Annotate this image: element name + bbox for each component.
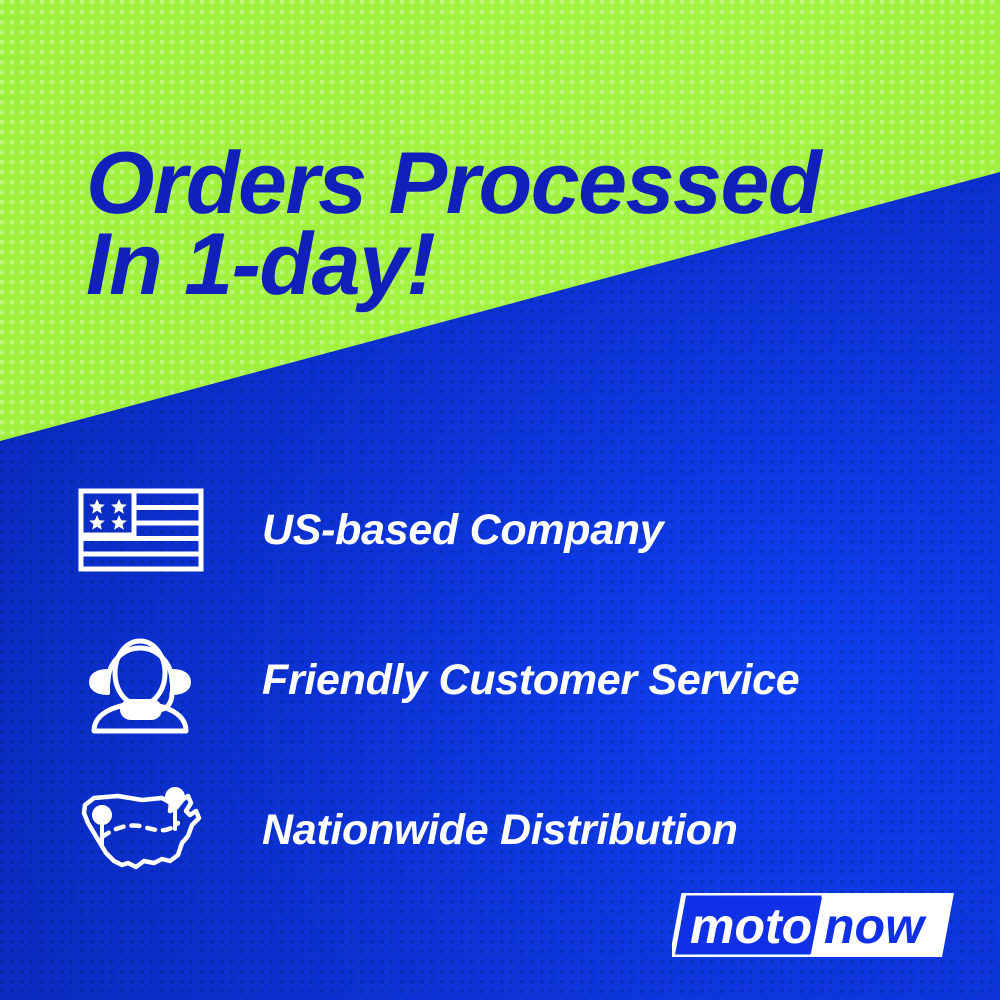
headline-line-2: In 1-day! — [86, 224, 946, 305]
headset-support-agent-icon — [78, 626, 210, 734]
logo-text-now: now — [824, 898, 927, 954]
feature-list: US-based Company — [78, 455, 938, 905]
promo-banner: Orders Processed In 1-day! — [0, 0, 1000, 1000]
motonow-logo[interactable]: moto now — [672, 893, 954, 957]
logo-text-moto: moto — [690, 898, 812, 954]
us-map-distribution-icon — [78, 781, 210, 879]
feature-label: US-based Company — [262, 506, 663, 555]
page-title: Orders Processed In 1-day! — [86, 62, 946, 386]
us-flag-icon — [78, 488, 210, 572]
feature-row-nationwide-distribution: Nationwide Distribution — [78, 755, 938, 905]
feature-row-us-based-company: US-based Company — [78, 455, 938, 605]
feature-row-friendly-customer-service: Friendly Customer Service — [78, 605, 938, 755]
feature-label: Nationwide Distribution — [262, 806, 738, 855]
feature-label: Friendly Customer Service — [262, 656, 799, 705]
